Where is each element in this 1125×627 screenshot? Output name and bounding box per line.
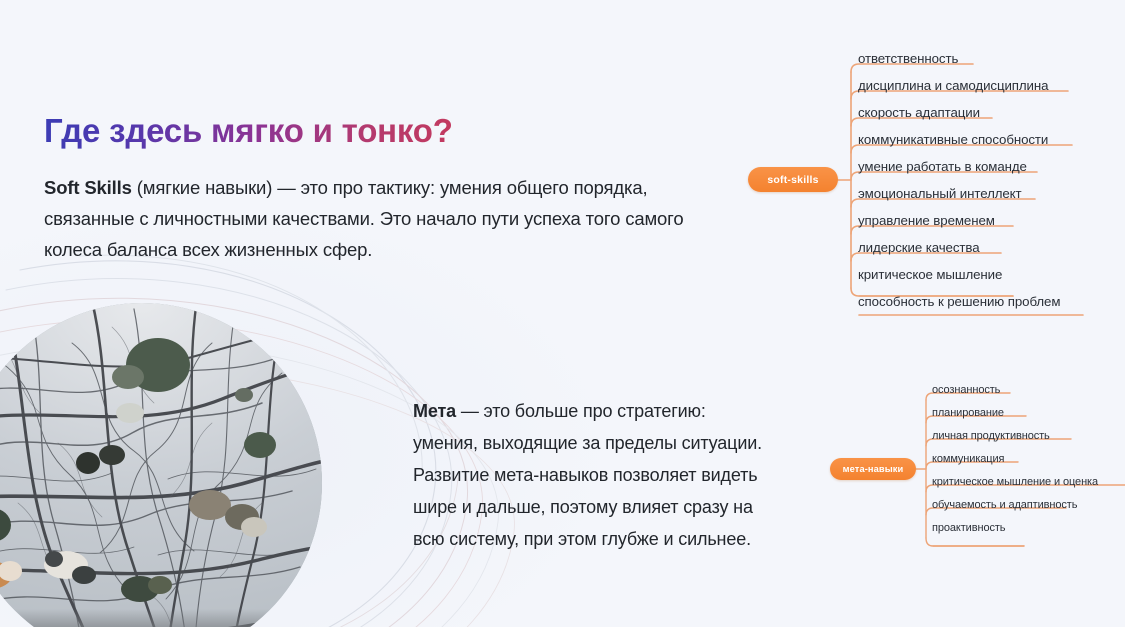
page-title: Где здесь мягко и тонко?: [44, 113, 453, 149]
mindmap-soft-skills-item-6[interactable]: управление временем: [858, 213, 995, 228]
soft-skills-paragraph-body: (мягкие навыки) — это про тактику: умени…: [44, 177, 684, 260]
meta-skills-paragraph: Мета — это больше про стратегию: умения,…: [413, 395, 773, 555]
soft-skills-paragraph-lead: Soft Skills: [44, 177, 132, 198]
mindmap-soft-skills-item-7[interactable]: лидерские качества: [858, 240, 980, 255]
mindmap-soft-skills: soft-skills ответственность дисциплина и…: [745, 30, 1125, 315]
meta-skills-paragraph-lead: Мета: [413, 401, 456, 421]
photo-cats-in-tree: [0, 303, 322, 627]
mindmap-soft-skills-badge[interactable]: soft-skills: [748, 167, 838, 192]
mindmap-soft-skills-item-0[interactable]: ответственность: [858, 51, 958, 66]
mindmap-soft-skills-item-5[interactable]: эмоциональный интеллект: [858, 186, 1022, 201]
mindmap-soft-skills-item-8[interactable]: критическое мышление: [858, 267, 1002, 282]
mindmap-soft-skills-item-4[interactable]: умение работать в команде: [858, 159, 1027, 174]
mindmap-meta-skills-item-1[interactable]: планирование: [932, 407, 1004, 419]
mindmap-soft-skills-item-2[interactable]: скорость адаптации: [858, 105, 980, 120]
mindmap-soft-skills-item-9[interactable]: способность к решению проблем: [858, 294, 1060, 309]
mindmap-meta-skills-item-3[interactable]: коммуникация: [932, 453, 1004, 465]
photo-ground: [0, 609, 322, 627]
mindmap-meta-skills-item-5[interactable]: обучаемость и адаптивность: [932, 499, 1077, 511]
mindmap-soft-skills-item-3[interactable]: коммуникативные способности: [858, 132, 1048, 147]
mindmap-meta-skills: мета-навыки осознанность планирование ли…: [828, 378, 1125, 558]
slide-canvas: Где здесь мягко и тонко? Soft Skills (мя…: [0, 0, 1125, 627]
mindmap-meta-skills-item-6[interactable]: проактивность: [932, 522, 1005, 534]
mindmap-soft-skills-item-1[interactable]: дисциплина и самодисциплина: [858, 78, 1048, 93]
soft-skills-paragraph: Soft Skills (мягкие навыки) — это про та…: [44, 172, 734, 265]
mindmap-meta-skills-item-2[interactable]: личная продуктивность: [932, 430, 1050, 442]
mindmap-meta-skills-badge[interactable]: мета-навыки: [830, 458, 916, 480]
mindmap-meta-skills-item-0[interactable]: осознанность: [932, 384, 1000, 396]
mindmap-meta-skills-item-4[interactable]: критическое мышление и оценка: [932, 476, 1098, 488]
meta-skills-paragraph-body: — это больше про стратегию: умения, выхо…: [413, 401, 762, 549]
photo-cats: [0, 303, 322, 627]
